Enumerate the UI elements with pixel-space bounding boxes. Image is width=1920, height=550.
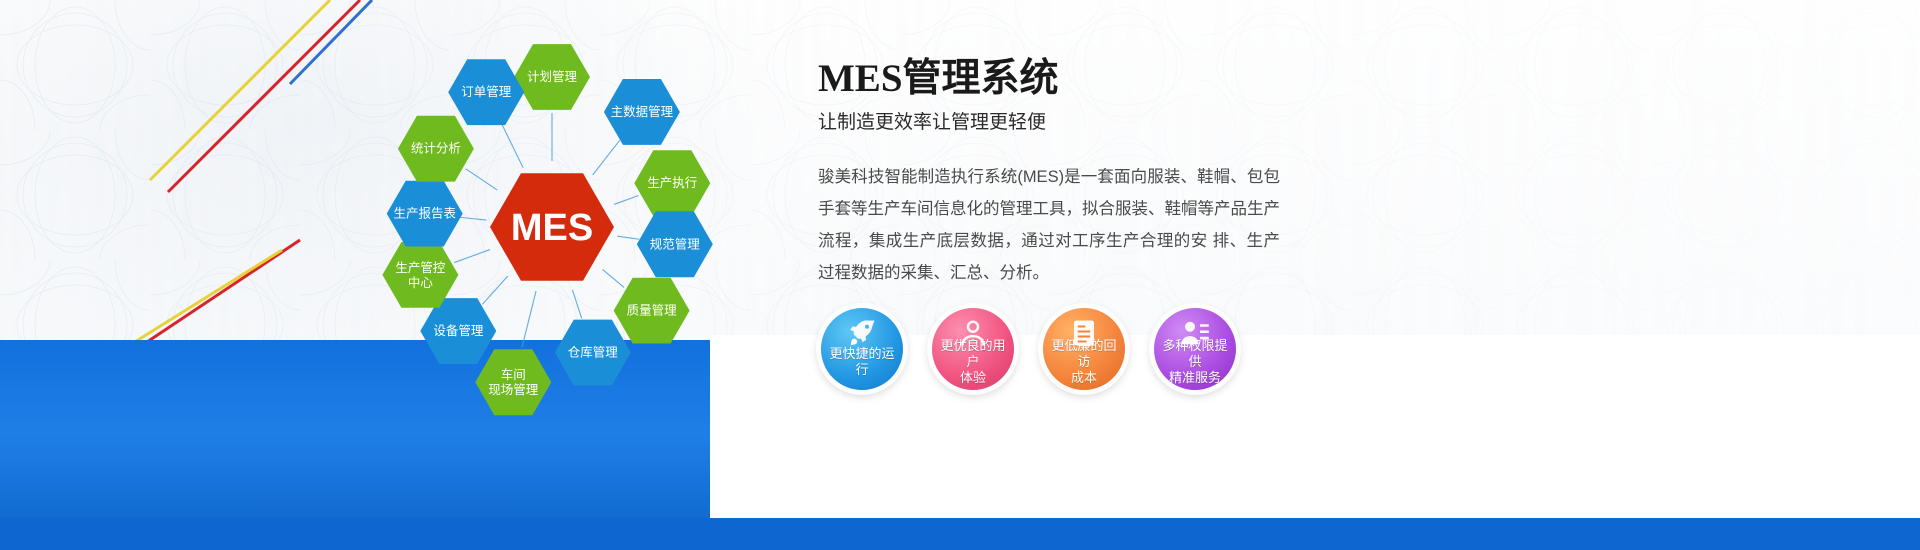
hex-connector xyxy=(593,140,620,175)
hex-node-label: 主数据管理 xyxy=(611,104,674,119)
bottom-blue-strip xyxy=(0,518,1920,550)
hex-node-label: 质量管理 xyxy=(627,303,678,318)
hex-node-label: 仓库管理 xyxy=(568,345,619,360)
page-title: MES管理系统 xyxy=(818,58,1298,101)
feature-badge-2[interactable]: 更优良的用户体验 xyxy=(929,305,1017,393)
mes-hexagon-diagram: 计划管理主数据管理生产执行规范管理质量管理仓库管理车间现场管理设备管理生产管控中… xyxy=(330,20,780,440)
hex-connector xyxy=(572,290,581,319)
hex-center-label: MES xyxy=(511,207,593,249)
hex-connector xyxy=(617,236,639,239)
user-list-icon xyxy=(1180,318,1210,348)
hex-node-label: 生产报告表 xyxy=(393,206,456,221)
feature-badge-1[interactable]: 更快捷的运行 xyxy=(818,305,906,393)
hex-node-label: 设备管理 xyxy=(433,323,484,338)
hex-node-label: 统计分析 xyxy=(411,142,461,156)
feature-badge-row: 更快捷的运行更优良的用户体验更低廉的回访成本多种权限提供精准服务 xyxy=(818,305,1288,405)
hex-connector xyxy=(522,291,536,347)
feature-badge-3[interactable]: 更低廉的回访成本 xyxy=(1040,305,1128,393)
page-subtitle: 让制造更效率让管理更轻便 xyxy=(818,111,1298,135)
hex-connector xyxy=(454,250,490,263)
mes-banner: 计划管理主数据管理生产执行规范管理质量管理仓库管理车间现场管理设备管理生产管控中… xyxy=(0,0,1920,550)
hex-connector xyxy=(614,196,638,205)
hex-node-label: 生产执行 xyxy=(647,176,697,190)
hex-connector xyxy=(461,217,487,220)
user-icon xyxy=(958,318,988,348)
feature-badge-4[interactable]: 多种权限提供精准服务 xyxy=(1151,305,1239,393)
hex-node-group: 计划管理主数据管理生产执行规范管理质量管理仓库管理车间现场管理设备管理生产管控中… xyxy=(382,44,712,415)
hex-node-label: 订单管理 xyxy=(461,84,512,99)
hex-connector xyxy=(502,125,523,168)
description-paragraph: 骏美科技智能制造执行系统(MES)是一套面向服装、鞋帽、包包手套等生产车间信息化… xyxy=(818,161,1280,290)
feature-badge-label: 更快捷的运行 xyxy=(821,346,903,379)
rocket-icon xyxy=(847,318,877,348)
hex-connector xyxy=(482,276,507,304)
hex-node-label: 计划管理 xyxy=(527,69,578,84)
hex-node-label: 规范管理 xyxy=(650,236,701,251)
hex-connector xyxy=(603,269,624,287)
banner-content: MES管理系统 让制造更效率让管理更轻便 骏美科技智能制造执行系统(MES)是一… xyxy=(818,58,1298,289)
document-icon xyxy=(1069,318,1099,348)
hex-connector xyxy=(466,169,498,190)
